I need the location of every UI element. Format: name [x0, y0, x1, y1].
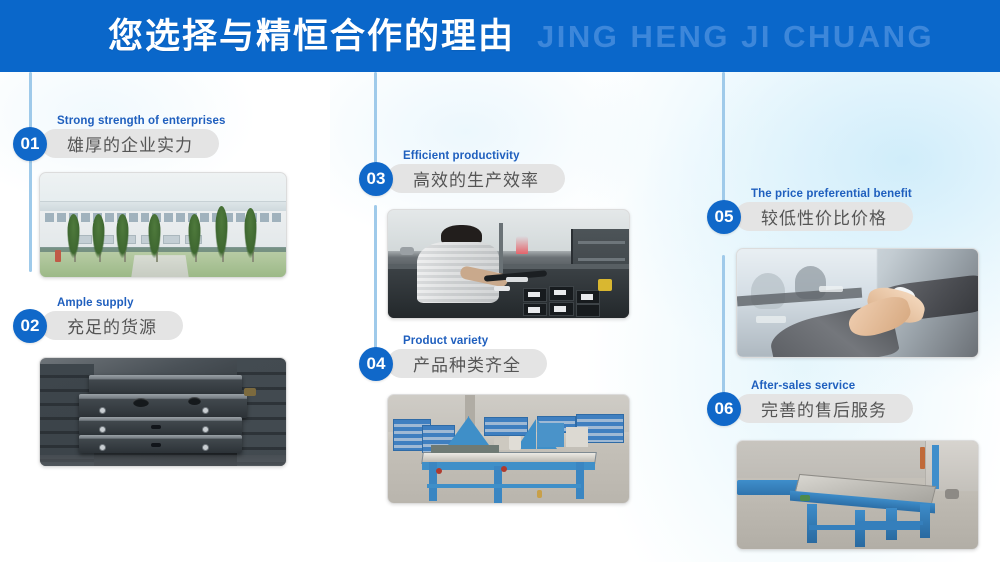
- promo-page: 您选择与精恒合作的理由 JING HENG JI CHUANG Strong s…: [0, 0, 1000, 562]
- feature-pill-02: 充足的货源: [41, 311, 183, 340]
- feature-pill-04: 产品种类齐全: [387, 349, 547, 378]
- feature-label-cn-06: 完善的售后服务: [761, 396, 887, 421]
- feature-label-cn-03: 高效的生产效率: [413, 166, 539, 191]
- feature-label-cn-04: 产品种类齐全: [413, 351, 521, 376]
- feature-label-en-01: Strong strength of enterprises: [57, 115, 226, 127]
- feature-header-02: Ample supply 充足的货源 02: [13, 297, 313, 343]
- feature-block-05[interactable]: The price preferential benefit 较低性价比价格 0…: [707, 188, 997, 234]
- photo-inner-03: [388, 210, 629, 318]
- feature-badge-06: 06: [707, 392, 741, 426]
- feature-header-03: Efficient productivity 高效的生产效率 03: [359, 150, 659, 196]
- feature-photo-05-business-handshake[interactable]: [736, 248, 979, 358]
- feature-photo-04-blue-machine-tables[interactable]: [387, 394, 630, 504]
- feature-label-en-05: The price preferential benefit: [751, 188, 912, 200]
- feature-badge-03: 03: [359, 162, 393, 196]
- photo-inner-04: [388, 395, 629, 503]
- feature-photo-03-worker-at-workbench[interactable]: [387, 209, 630, 319]
- feature-block-01[interactable]: Strong strength of enterprises 雄厚的企业实力 0…: [13, 115, 313, 161]
- photo-inner-05: [737, 249, 978, 357]
- feature-header-01: Strong strength of enterprises 雄厚的企业实力 0…: [13, 115, 313, 161]
- feature-label-cn-01: 雄厚的企业实力: [67, 131, 193, 156]
- photo-inner-01: [40, 173, 286, 277]
- feature-header-06: After-sales service 完善的售后服务 06: [707, 380, 997, 426]
- feature-photo-02-stacked-machine-parts[interactable]: [39, 357, 287, 467]
- page-header: 您选择与精恒合作的理由 JING HENG JI CHUANG: [0, 0, 1000, 72]
- feature-label-en-03: Efficient productivity: [403, 150, 520, 162]
- connector-line-column-1: [29, 72, 32, 272]
- feature-label-en-02: Ample supply: [57, 297, 134, 309]
- header-title-chinese: 您选择与精恒合作的理由: [108, 19, 515, 54]
- feature-badge-01: 01: [13, 127, 47, 161]
- feature-pill-05: 较低性价比价格: [735, 202, 913, 231]
- feature-label-cn-02: 充足的货源: [67, 313, 157, 338]
- feature-pill-03: 高效的生产效率: [387, 164, 565, 193]
- feature-header-04: Product variety 产品种类齐全 04: [359, 335, 659, 381]
- feature-label-en-06: After-sales service: [751, 380, 855, 392]
- feature-block-04[interactable]: Product variety 产品种类齐全 04: [359, 335, 659, 381]
- feature-photo-06-blue-work-table[interactable]: [736, 440, 979, 550]
- feature-label-cn-05: 较低性价比价格: [761, 204, 887, 229]
- feature-label-en-04: Product variety: [403, 335, 488, 347]
- feature-pill-06: 完善的售后服务: [735, 394, 913, 423]
- feature-badge-04: 04: [359, 347, 393, 381]
- photo-inner-06: [737, 441, 978, 549]
- feature-badge-02: 02: [13, 309, 47, 343]
- feature-pill-01: 雄厚的企业实力: [41, 129, 219, 158]
- header-title-english: JING HENG JI CHUANG: [537, 21, 934, 52]
- feature-block-03[interactable]: Efficient productivity 高效的生产效率 03: [359, 150, 659, 196]
- feature-block-06[interactable]: After-sales service 完善的售后服务 06: [707, 380, 997, 426]
- photo-inner-02: [40, 358, 286, 466]
- feature-header-05: The price preferential benefit 较低性价比价格 0…: [707, 188, 997, 234]
- feature-photo-01-factory-building-exterior[interactable]: [39, 172, 287, 278]
- feature-block-02[interactable]: Ample supply 充足的货源 02: [13, 297, 313, 343]
- feature-badge-05: 05: [707, 200, 741, 234]
